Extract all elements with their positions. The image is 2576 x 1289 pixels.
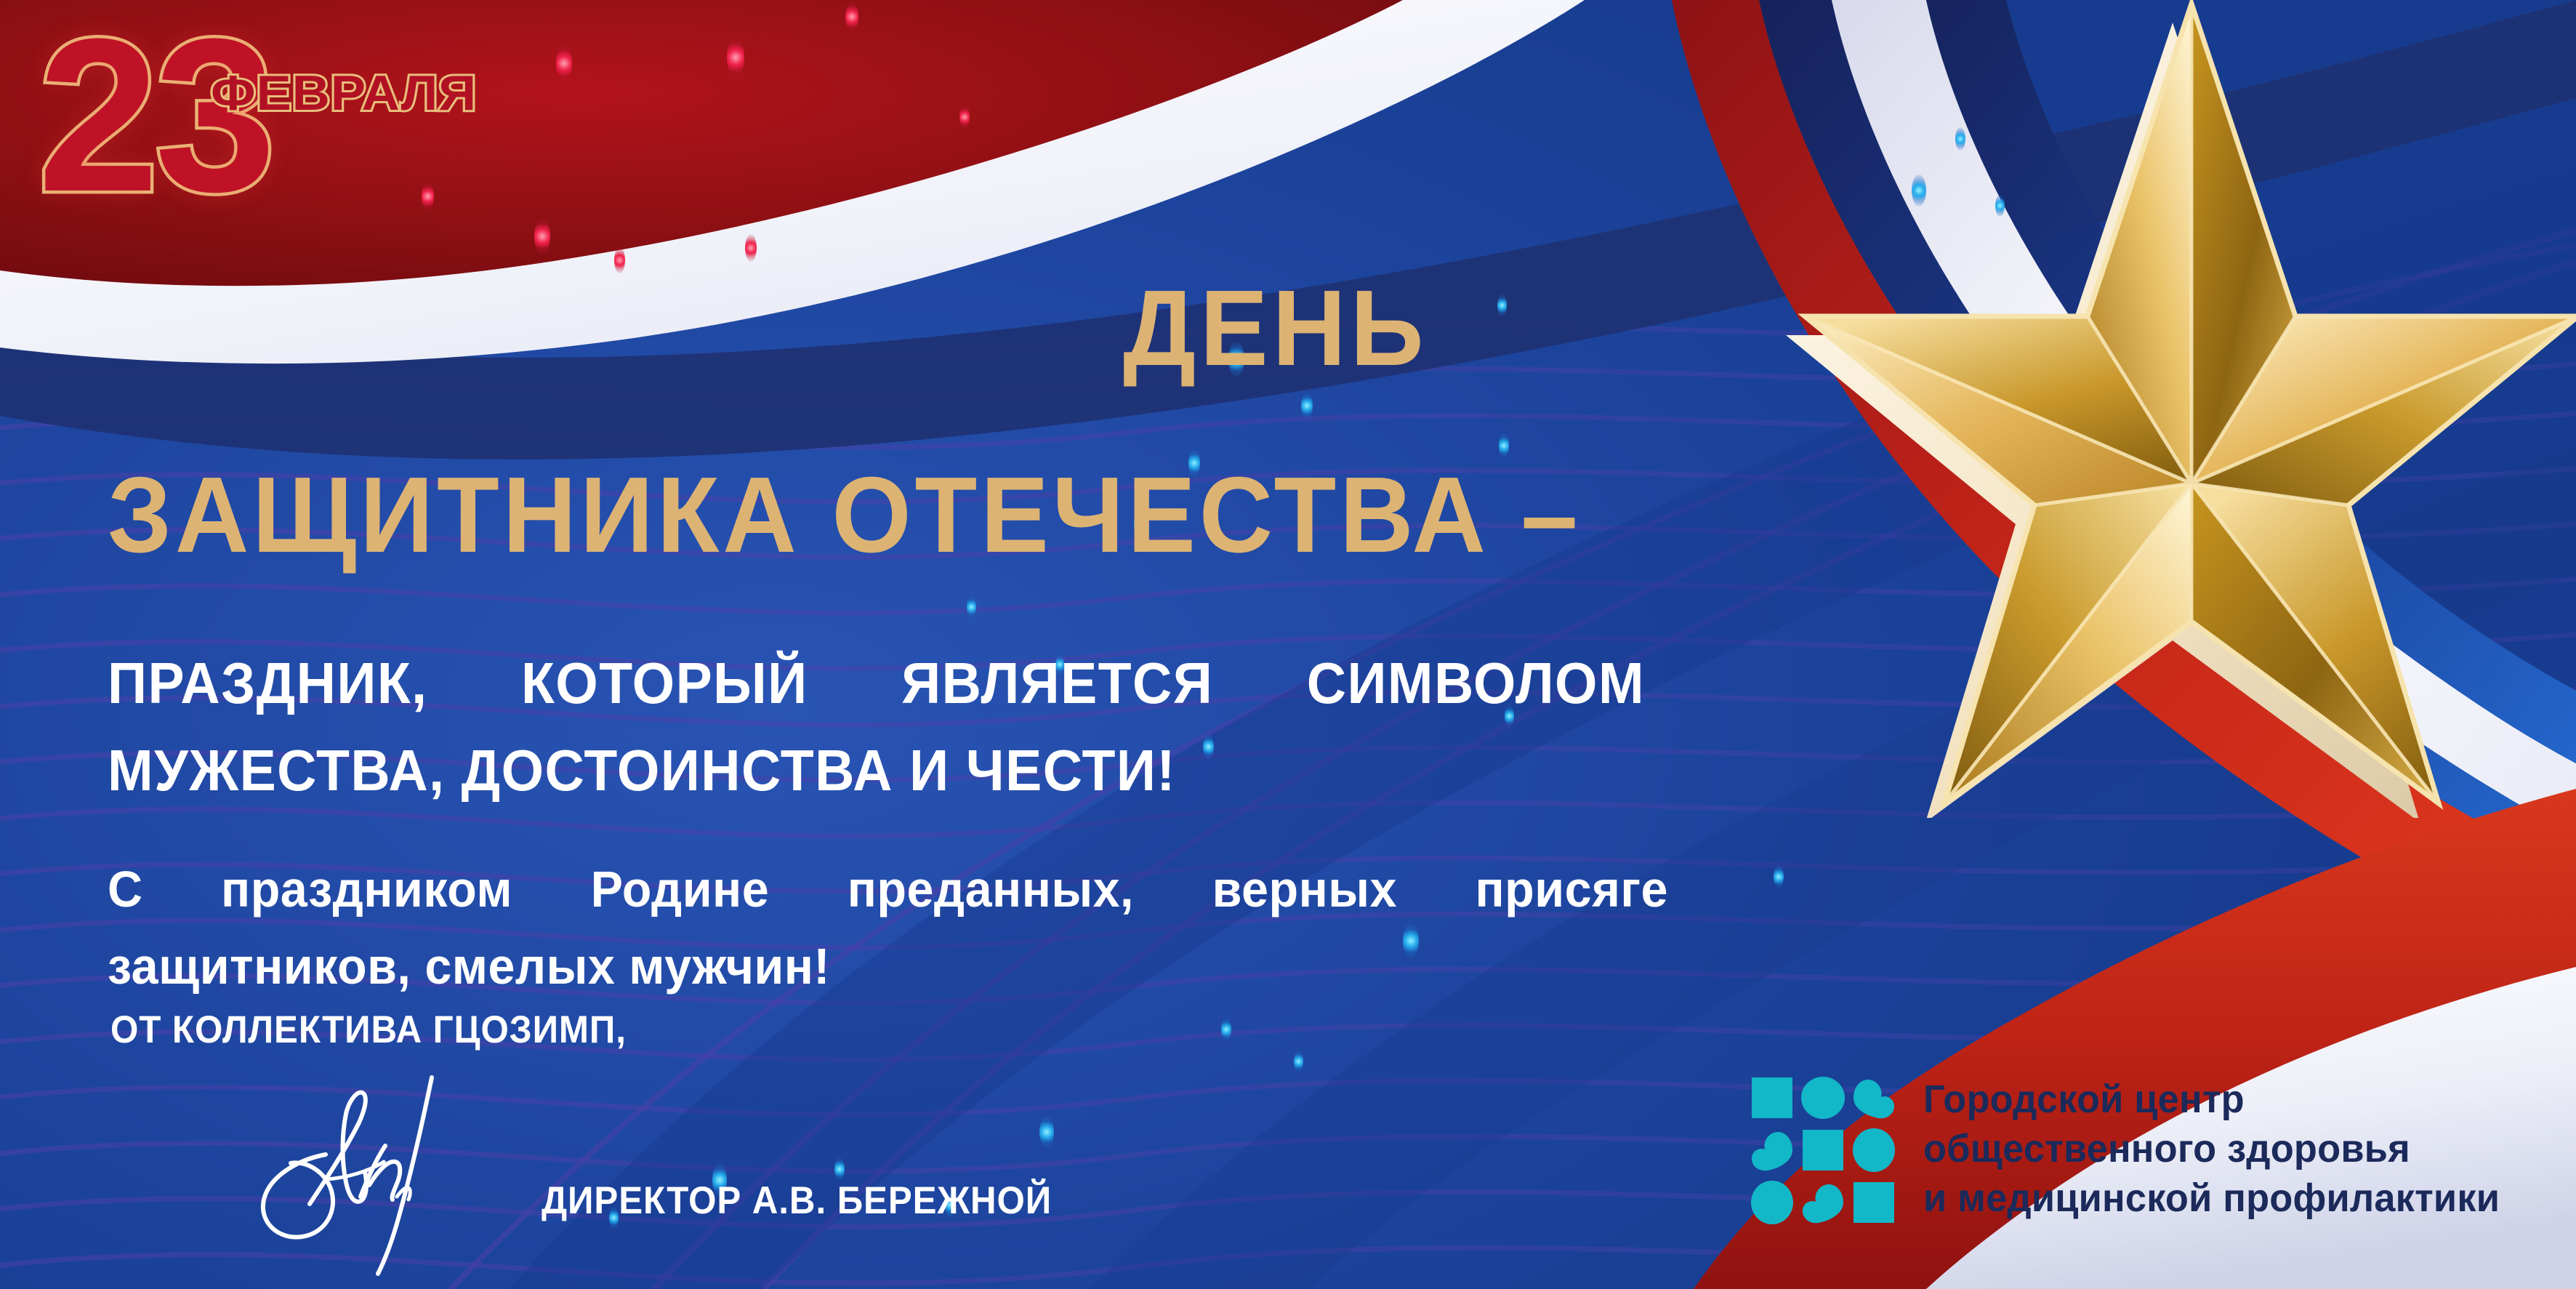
organization-logo: Городской центр общественного здоровья и…	[1750, 1075, 2518, 1226]
greeting-banner: 23 ФЕВРАЛЯ ДЕНЬ ЗАЩИТНИКА ОТЕЧЕСТВА – ПР…	[0, 0, 2576, 1289]
headline-line-1: ДЕНЬ	[1123, 275, 1428, 382]
signature-icon	[240, 1069, 531, 1287]
signoff-director: ДИРЕКТОР А.В. БЕРЕЖНОЙ	[542, 1181, 1052, 1220]
subheading-line-2: МУЖЕСТВА, ДОСТОИНСТВА И ЧЕСТИ!	[108, 727, 1645, 814]
subheading-line-1: ПРАЗДНИК, КОТОРЫЙ ЯВЛЯЕТСЯ СИМВОЛОМ	[108, 640, 1645, 727]
month-name: ФЕВРАЛЯ	[211, 68, 477, 118]
organization-name-line-3: и медицинской профилактики	[1923, 1173, 2500, 1223]
gcozimp-logo-mark-icon	[1750, 1075, 1896, 1226]
signoff-from: ОТ КОЛЛЕКТИВА ГЦОЗИМП,	[110, 1011, 627, 1049]
date-block: 23 ФЕВРАЛЯ	[38, 6, 590, 224]
subheading: ПРАЗДНИК, КОТОРЫЙ ЯВЛЯЕТСЯ СИМВОЛОМ МУЖЕ…	[108, 640, 1645, 814]
organization-name-line-2: общественного здоровья	[1923, 1124, 2500, 1173]
organization-name: Городской центр общественного здоровья и…	[1923, 1075, 2500, 1223]
headline-line-2: ЗАЩИТНИКА ОТЕЧЕСТВА –	[108, 462, 1581, 569]
organization-name-line-1: Городской центр	[1923, 1075, 2500, 1124]
wish-line-2: защитников, смелых мужчин!	[108, 928, 1668, 1005]
wish-text: С праздником Родине преданных, верных пр…	[108, 851, 1668, 1005]
wish-line-1: С праздником Родине преданных, верных пр…	[108, 851, 1668, 928]
